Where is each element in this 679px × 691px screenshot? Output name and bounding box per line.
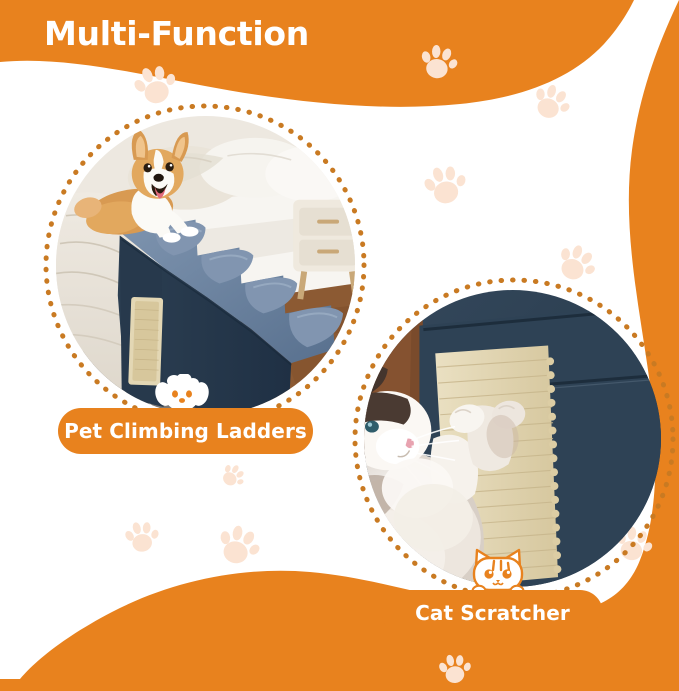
dog-on-stairs-photo — [56, 116, 355, 415]
label-pill-pet-climbing-ladders[interactable]: Pet Climbing Ladders — [58, 408, 313, 454]
paw-print-icon — [431, 645, 476, 690]
cat-icon — [466, 546, 530, 596]
photo-cat-scratcher[interactable] — [364, 290, 661, 587]
cat-scratching-photo — [364, 290, 661, 587]
label-text-cat-scratcher: Cat Scratcher — [415, 601, 570, 625]
page-title: Multi-Function — [44, 14, 309, 53]
paw-print-icon — [412, 35, 464, 87]
marketing-image: Multi-Function — [0, 0, 679, 679]
label-text-pet-climbing-ladders: Pet Climbing Ladders — [64, 419, 307, 443]
label-pill-cat-scratcher[interactable]: Cat Scratcher — [382, 590, 603, 636]
photo-pet-climbing-ladders[interactable] — [56, 116, 355, 415]
paw-print-icon — [117, 512, 166, 561]
